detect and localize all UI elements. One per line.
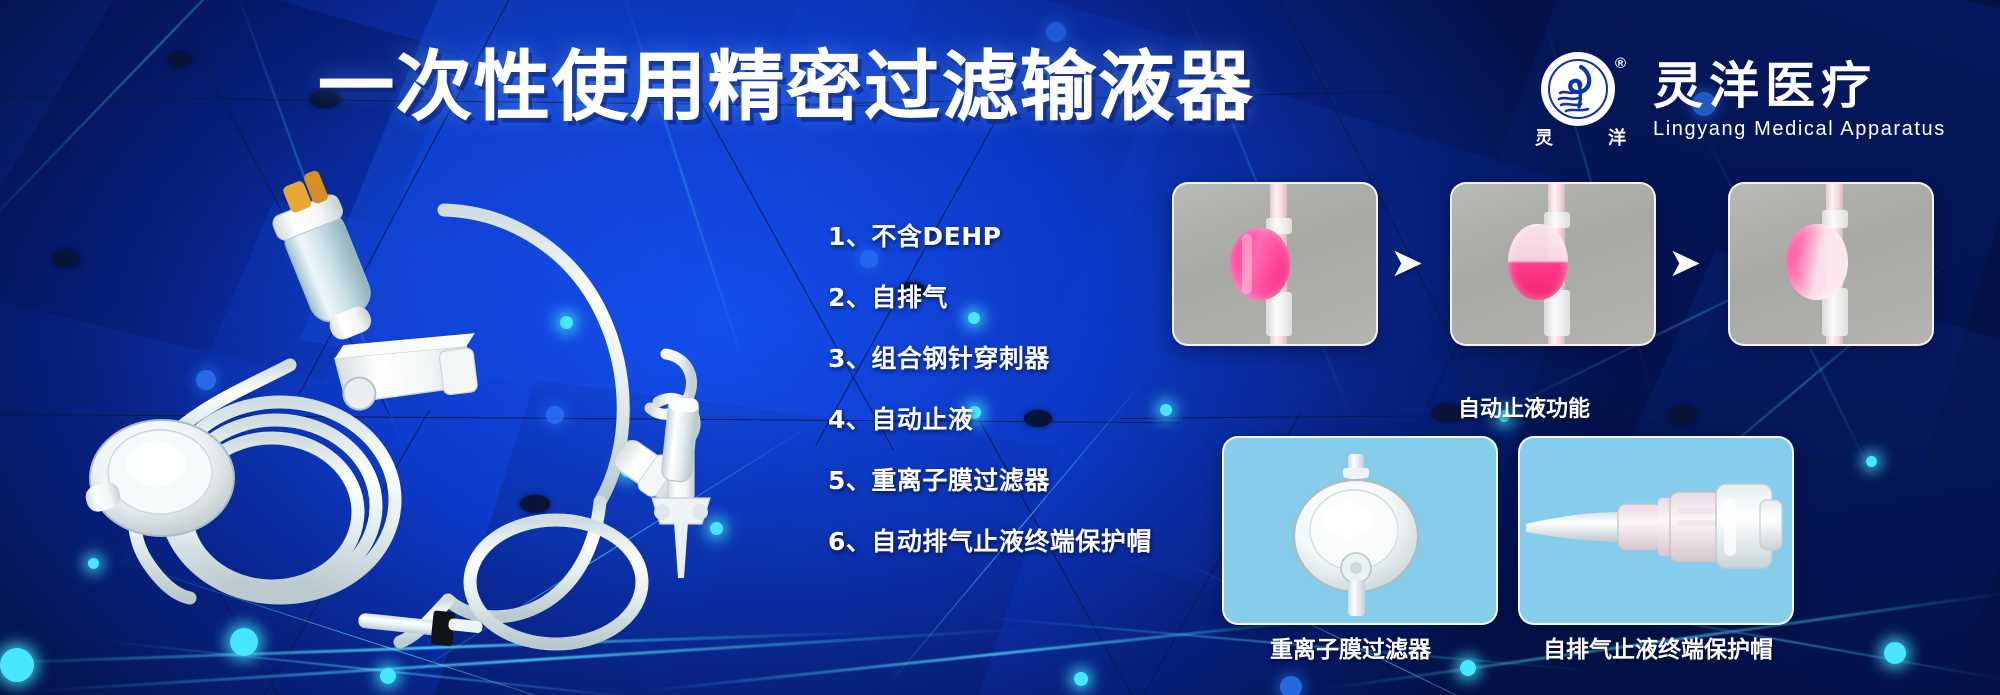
product-banner: 一次性使用精密过滤输液器 ® 灵 洋 灵洋医疗 Lingyang Medical… bbox=[0, 0, 2000, 695]
detail-image-cap bbox=[1518, 436, 1794, 625]
sequence-step-image-3 bbox=[1728, 182, 1934, 346]
feature-item: 4、自动止液 bbox=[828, 405, 1152, 435]
feature-list: 1、不含DEHP 2、自排气 3、组合钢针穿刺器 4、自动止液 5、重离子膜过滤… bbox=[828, 222, 1152, 557]
detail-image-filter bbox=[1222, 436, 1498, 625]
feature-item: 3、组合钢针穿刺器 bbox=[828, 344, 1152, 374]
feature-item: 5、重离子膜过滤器 bbox=[828, 466, 1152, 496]
brand-name-block: 灵洋医疗 Lingyang Medical Apparatus bbox=[1653, 58, 1946, 142]
feature-item: 1、不含DEHP bbox=[828, 222, 1152, 252]
sequence-step-image-1 bbox=[1172, 182, 1378, 346]
feature-item: 2、自排气 bbox=[828, 283, 1152, 313]
sequence-arrow-2: ➤ bbox=[1668, 243, 1702, 283]
sequence-caption: 自动止液功能 bbox=[1458, 391, 1590, 423]
feature-item: 6、自动排气止液终端保护帽 bbox=[828, 527, 1152, 557]
logo-mark-icon: ® 灵 洋 bbox=[1533, 50, 1637, 150]
page-title: 一次性使用精密过滤输液器 bbox=[318, 45, 1254, 129]
detail-caption-filter: 重离子膜过滤器 bbox=[1270, 630, 1431, 664]
brand-name-en: Lingyang Medical Apparatus bbox=[1653, 116, 1946, 142]
detail-caption-cap: 自排气止液终端保护帽 bbox=[1543, 630, 1773, 664]
logo-mark-subtext: 灵 洋 bbox=[1535, 124, 1627, 150]
registered-trademark-icon: ® bbox=[1615, 56, 1626, 71]
brand-logo: ® 灵 洋 灵洋医疗 Lingyang Medical Apparatus bbox=[1533, 50, 1946, 150]
sequence-step-image-2 bbox=[1450, 182, 1656, 346]
logo-mark-sub-right: 洋 bbox=[1608, 124, 1627, 150]
brand-name-cn: 灵洋医疗 bbox=[1653, 58, 1946, 114]
sequence-arrow-1: ➤ bbox=[1390, 243, 1424, 283]
hero-product-image bbox=[40, 150, 760, 660]
logo-mark-sub-left: 灵 bbox=[1535, 124, 1554, 150]
logo-wave-leaf-icon bbox=[1548, 59, 1608, 119]
